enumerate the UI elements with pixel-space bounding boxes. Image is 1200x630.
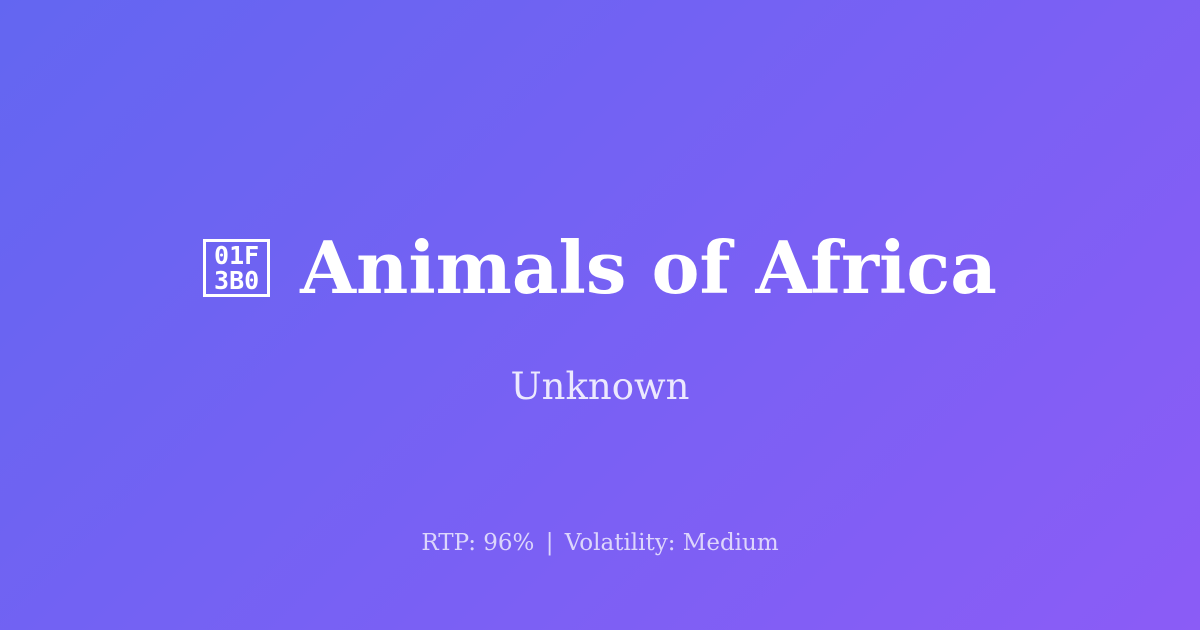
slot-machine-icon: 01F 3B0 — [203, 239, 270, 297]
codepoint-row-bottom: 3B0 — [214, 268, 259, 293]
rtp-value: RTP: 96% — [421, 530, 534, 556]
provider-name: Unknown — [0, 365, 1200, 409]
title-row: 01F 3B0 Animals of Africa — [0, 232, 1200, 304]
volatility-value: Volatility: Medium — [565, 530, 779, 556]
meta-separator: | — [542, 530, 558, 556]
codepoint-row-top: 01F — [214, 243, 259, 268]
page-title: Animals of Africa — [300, 232, 997, 304]
og-card: 01F 3B0 Animals of Africa Unknown RTP: 9… — [0, 0, 1200, 630]
game-meta: RTP: 96% | Volatility: Medium — [0, 528, 1200, 558]
